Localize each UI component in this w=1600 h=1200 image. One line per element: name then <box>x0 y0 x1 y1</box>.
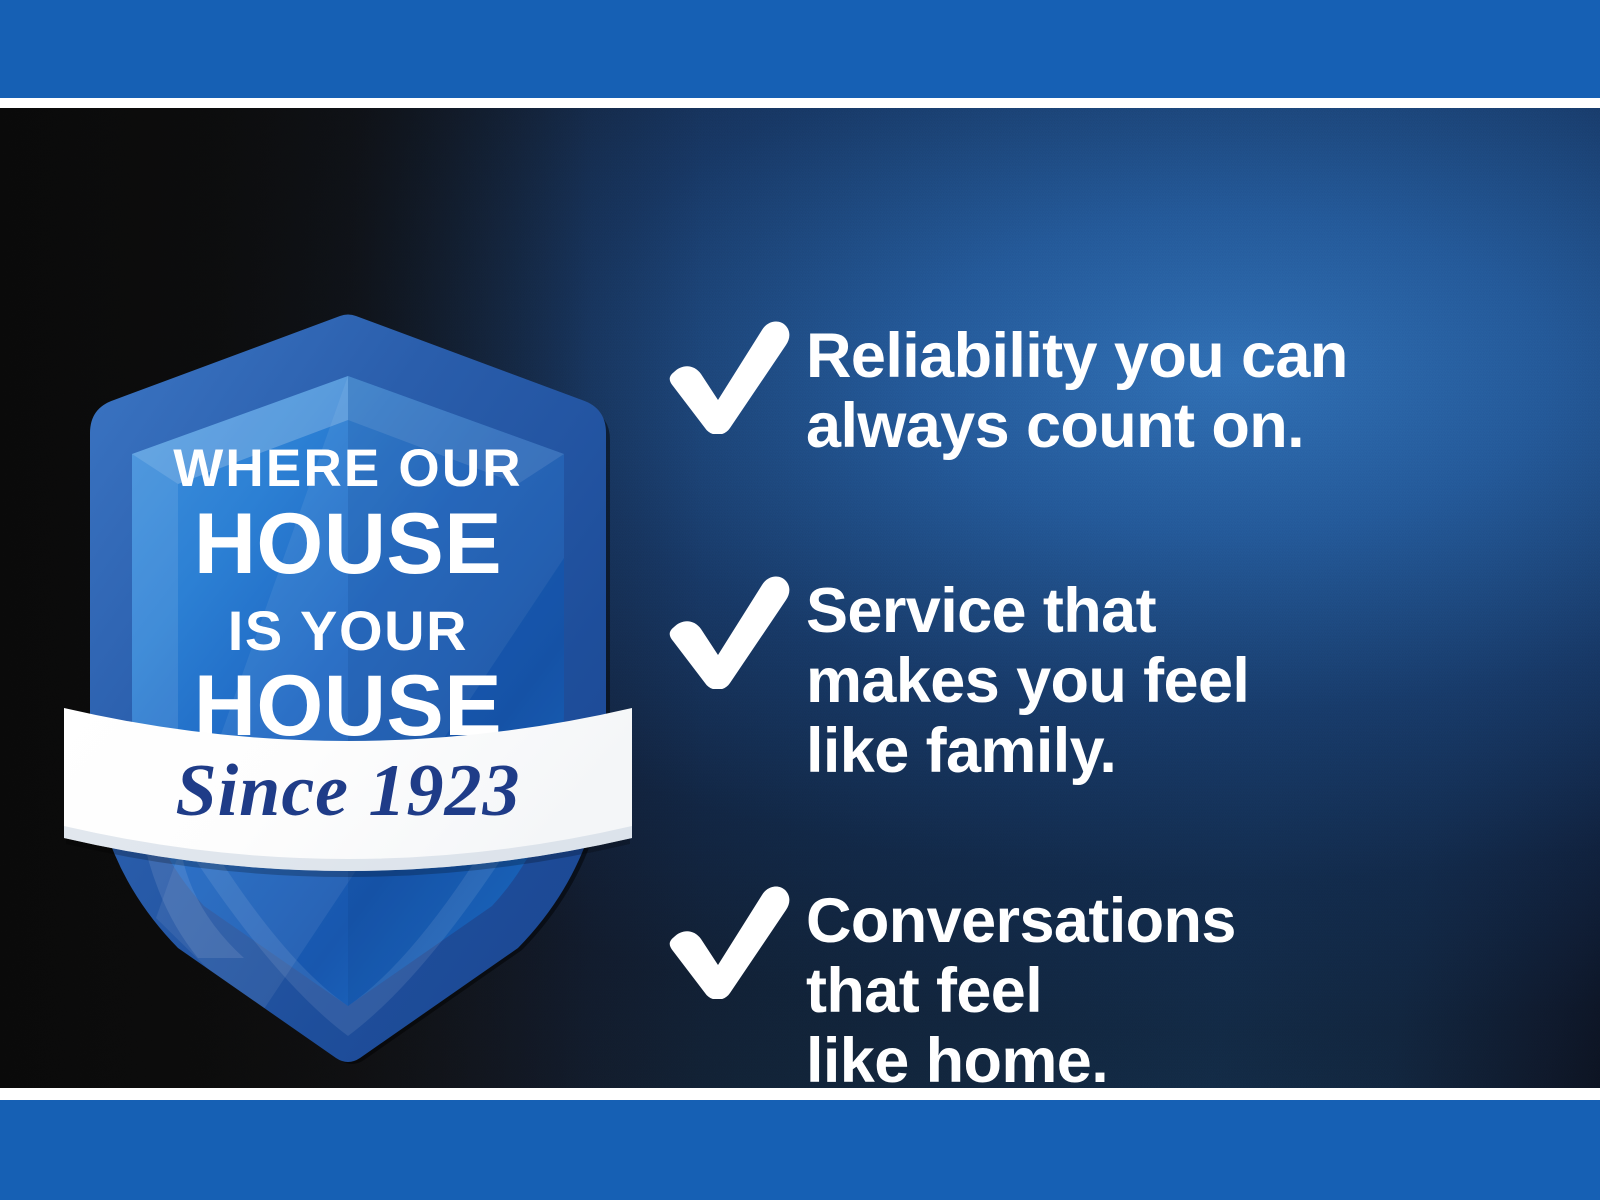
main-panel: WHERE OUR HOUSE IS YOUR HOUSE Since 1923 <box>0 108 1600 1088</box>
shield-line-3: IS YOUR <box>228 599 468 662</box>
shield-line-2: HOUSE <box>194 496 502 592</box>
top-brand-bar <box>0 0 1600 98</box>
shield-line-1: WHERE OUR <box>173 439 523 498</box>
since-1923-shield-badge: WHERE OUR HOUSE IS YOUR HOUSE Since 1923 <box>48 258 648 1078</box>
benefit-item-conversations: Conversations that feel like home. <box>660 881 1236 1088</box>
benefits-list: Reliability you can always count on. Ser… <box>660 216 1560 1088</box>
checkmark-icon <box>660 881 792 999</box>
bottom-brand-bar <box>0 1100 1600 1200</box>
benefit-item-service: Service that makes you feel like family. <box>660 571 1249 787</box>
ribbon-since-text: Since 1923 <box>175 750 520 832</box>
checkmark-icon <box>660 316 792 434</box>
checkmark-icon <box>660 571 792 689</box>
promo-graphic-canvas: WHERE OUR HOUSE IS YOUR HOUSE Since 1923 <box>0 0 1600 1200</box>
benefit-text: Reliability you can always count on. <box>806 316 1348 462</box>
benefit-text: Service that makes you feel like family. <box>806 571 1249 787</box>
benefit-item-reliability: Reliability you can always count on. <box>660 316 1348 462</box>
benefit-text: Conversations that feel like home. <box>806 881 1236 1088</box>
